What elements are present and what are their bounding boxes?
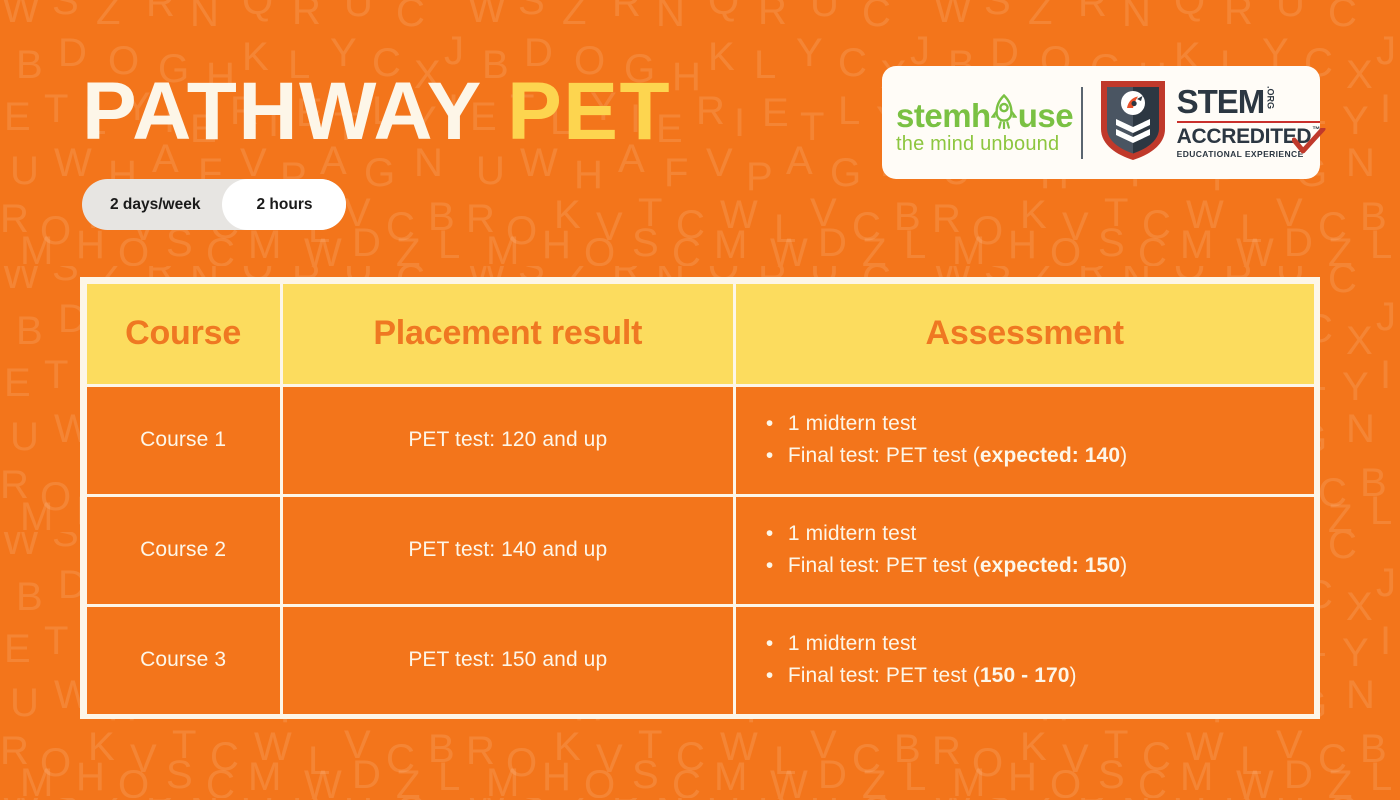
course-label: Course 1 [140, 426, 226, 454]
assessment-list: 1 midtern test Final test: PET test (150… [736, 628, 1077, 692]
cell-course: Course 2 [84, 494, 283, 607]
table-header-row: Course Placement result Assessment [85, 282, 1315, 385]
assessment-text: 1 midtern test [788, 412, 917, 435]
rocket-icon [991, 92, 1018, 130]
assessment-suffix: ) [1120, 444, 1127, 467]
placement-label: PET test: 120 and up [408, 426, 607, 454]
cell-assessment: 1 midtern test Final test: PET test (150… [733, 604, 1317, 717]
cell-placement-result: PET test: 120 and up [280, 384, 736, 497]
assessment-text: Final test: PET test ( [788, 444, 980, 467]
course-label: Course 3 [140, 646, 226, 674]
wordmark-part-2: use [1018, 99, 1073, 133]
poster-header: PATHWAY PET 2 days/week 2 hours stemh [0, 0, 1400, 250]
wordmark-part-1: stemh [896, 99, 991, 133]
placement-label: PET test: 150 and up [408, 646, 607, 674]
assessment-text: Final test: PET test ( [788, 664, 980, 687]
list-item: 1 midtern test [788, 408, 1127, 440]
assessment-suffix: ) [1070, 664, 1077, 687]
cell-placement-result: PET test: 150 and up [280, 604, 736, 717]
assessment-highlight: expected: 150 [980, 554, 1120, 577]
list-item: Final test: PET test (expected: 140) [788, 440, 1127, 472]
checkmark-icon [1292, 128, 1326, 163]
column-header-course-label: Course [125, 314, 241, 353]
poster-canvas: W S Z R N Q R U C B D O G H K [0, 0, 1400, 800]
cell-assessment: 1 midtern test Final test: PET test (exp… [733, 384, 1317, 497]
page-title: PATHWAY PET [82, 64, 671, 160]
list-item: Final test: PET test (150 - 170) [788, 660, 1077, 692]
assessment-suffix: ) [1120, 554, 1127, 577]
logo-card: stemh [882, 66, 1320, 179]
assessment-text: Final test: PET test ( [788, 554, 980, 577]
column-header-assessment: Assessment [733, 281, 1317, 387]
list-item: Final test: PET test (expected: 150) [788, 550, 1127, 582]
column-header-course: Course [84, 281, 283, 387]
stem-wordmark: STEM [1177, 86, 1265, 118]
table-row: Course 1 PET test: 120 and up 1 midtern … [85, 385, 1315, 495]
column-header-placement-result: Placement result [280, 281, 736, 387]
table-row: Course 2 PET test: 140 and up 1 midtern … [85, 495, 1315, 605]
list-item: 1 midtern test [788, 518, 1127, 550]
stem-accreditation: STEM .ORG ACCREDITED ™ EDUCATIONAL EXPER… [1097, 77, 1320, 168]
stem-org-suffix: .ORG [1265, 86, 1274, 109]
assessment-list: 1 midtern test Final test: PET test (exp… [736, 518, 1127, 582]
brand-tagline: the mind unbound [896, 132, 1075, 156]
table-row: Course 3 PET test: 150 and up 1 midtern … [85, 605, 1315, 715]
pathway-table: Course Placement result Assessment Cours… [80, 277, 1320, 719]
schedule-toggle[interactable]: 2 days/week 2 hours [82, 179, 346, 230]
assessment-list: 1 midtern test Final test: PET test (exp… [736, 408, 1127, 472]
assessment-highlight: expected: 140 [980, 444, 1120, 467]
cell-assessment: 1 midtern test Final test: PET test (exp… [733, 494, 1317, 607]
toggle-option-days-per-week[interactable]: 2 days/week [82, 179, 222, 230]
stem-shield-badge-icon [1097, 77, 1169, 168]
assessment-text: 1 midtern test [788, 522, 917, 545]
placement-label: PET test: 140 and up [408, 536, 607, 564]
column-header-assessment-label: Assessment [926, 314, 1124, 353]
list-item: 1 midtern test [788, 628, 1077, 660]
cell-placement-result: PET test: 140 and up [280, 494, 736, 607]
cell-course: Course 1 [84, 384, 283, 497]
toggle-option-hours[interactable]: 2 hours [222, 179, 346, 230]
stemhouse-brand: stemh [882, 90, 1075, 156]
assessment-text: 1 midtern test [788, 632, 917, 655]
stemhouse-wordmark: stemh [896, 90, 1075, 128]
assessment-highlight: 150 - 170 [980, 664, 1070, 687]
column-header-placement-label: Placement result [373, 314, 642, 353]
logo-divider [1081, 87, 1083, 159]
title-main: PATHWAY [82, 66, 483, 157]
accreditation-text-block: STEM .ORG ACCREDITED ™ EDUCATIONAL EXPER… [1177, 86, 1320, 159]
title-accent: PET [507, 66, 671, 157]
course-label: Course 2 [140, 536, 226, 564]
accreditation-rule [1177, 121, 1320, 123]
cell-course: Course 3 [84, 604, 283, 717]
